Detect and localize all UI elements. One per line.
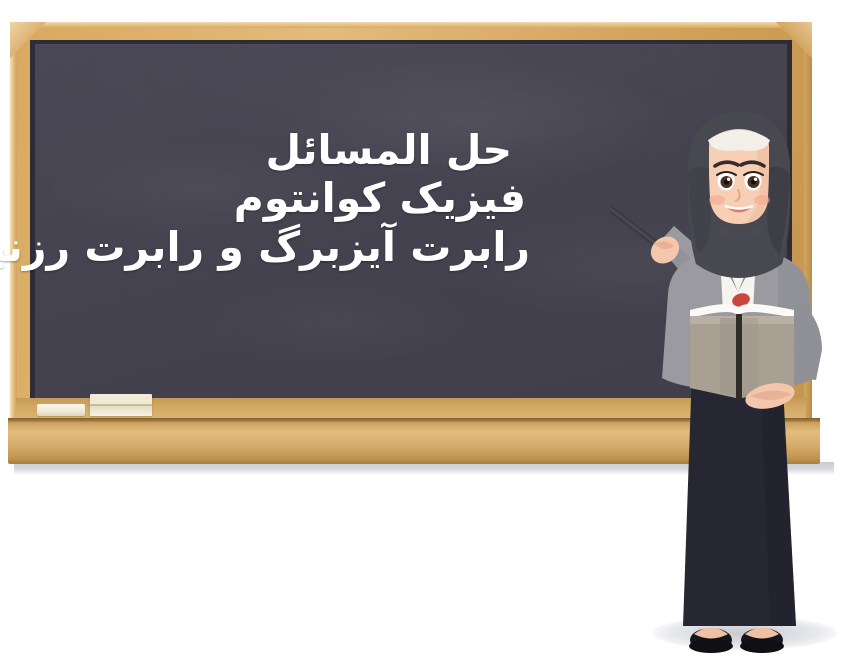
chalkboard-eraser-icon [90, 394, 152, 416]
chalkboard-text-line-1: حل المسائل [40, 128, 530, 172]
teacher-shoes [689, 628, 784, 654]
illustration-scene: حل المسائل فیزیک کوانتوم رابرت آیزبرگ و … [0, 0, 865, 668]
teacher-cheek-left [709, 195, 725, 205]
teacher-figure [610, 78, 865, 668]
chalkboard-text-line-2: فیزیک کوانتوم [40, 176, 530, 220]
chalk-stick-icon [37, 404, 85, 416]
teacher-cheek-right [754, 195, 770, 205]
chalkboard-text-line-3: رابرت آیزبرگ و رابرت رزنیک [40, 225, 530, 269]
chalkboard-text-block: حل المسائل فیزیک کوانتوم رابرت آیزبرگ و … [40, 128, 530, 269]
frame-top-edge [10, 22, 812, 28]
pointer-stick-icon [610, 166, 664, 250]
